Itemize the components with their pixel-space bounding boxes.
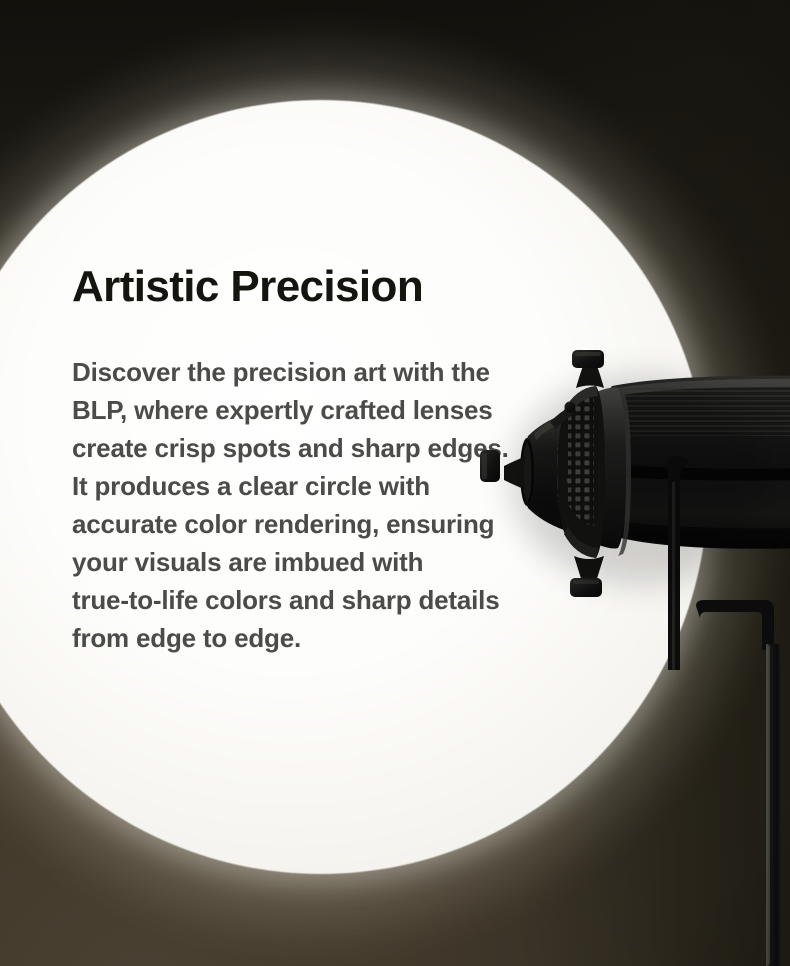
knob-top-highlight	[575, 352, 601, 356]
fixture-wall-shadow	[510, 375, 770, 585]
stand-pole-highlight	[767, 646, 770, 964]
knob-bottom-highlight	[573, 580, 599, 584]
page-title: Artistic Precision	[72, 264, 592, 311]
stand-yoke-elbow	[696, 600, 774, 650]
light-stand	[694, 600, 790, 966]
knob-left-highlight	[482, 453, 487, 479]
banner-stage: Artistic Precision Discover the precisio…	[0, 0, 790, 966]
body-paragraph: Discover the precision art with the BLP,…	[72, 353, 584, 657]
